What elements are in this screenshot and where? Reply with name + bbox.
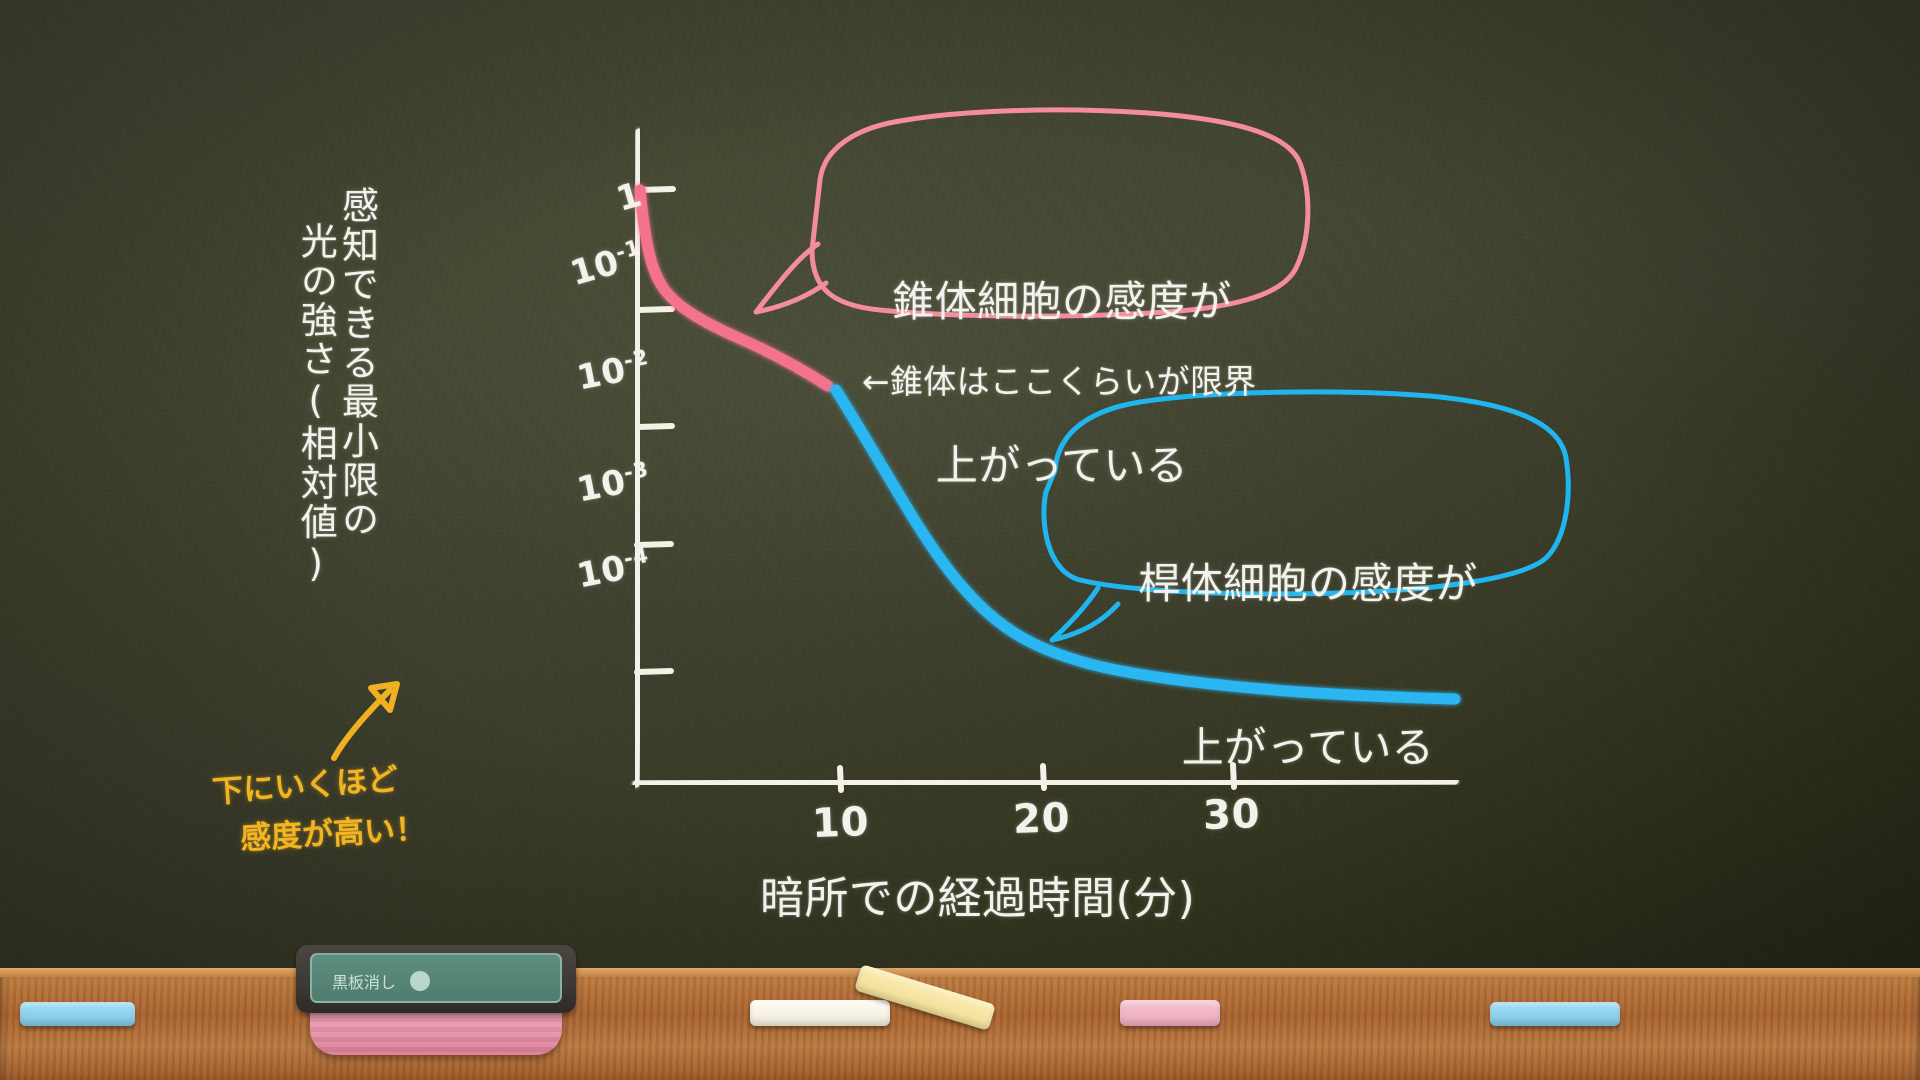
y-tick-label-1e-4-exp: -4: [621, 542, 650, 571]
rod-bubble-text: 桿体細胞の感度が 上がっている: [1050, 448, 1566, 885]
y-tick-label-1e-3-base: 10: [574, 462, 629, 511]
y-axis-title-column-1: 感知できる最小限の: [337, 186, 376, 539]
blackboard-eraser[interactable]: 黒板消し: [296, 945, 576, 1055]
y-tick-label-1e-2-exp: -2: [621, 344, 650, 373]
chalk-tray-lip: [0, 968, 1920, 977]
chalk-stick-blue-left[interactable]: [20, 1002, 135, 1026]
eraser-label-marks: 黒板消し: [332, 969, 547, 993]
y-axis-title: 感知できる最小限の 光の強さ(相対値): [296, 186, 376, 566]
chalk-stick-blue-right[interactable]: [1490, 1002, 1620, 1026]
eraser-label-text: 黒板消し: [332, 969, 396, 993]
cone-bubble-line-1: 錐体細胞の感度が: [812, 275, 1312, 330]
y-axis-title-column-2: 光の強さ(相対値): [296, 222, 335, 587]
chalk-stick-pink[interactable]: [1120, 1000, 1220, 1026]
cone-limit-note: ←錐体はここくらいが限界: [862, 355, 1257, 403]
cone-sensitivity-curve: [640, 190, 828, 386]
eraser-body: 黒板消し: [296, 945, 576, 1013]
rod-bubble-line-1: 桿体細胞の感度が: [1050, 557, 1566, 612]
blackboard-scene: 感知できる最小限の 光の強さ(相対値) 1 10-1 10-2 10-3 10-…: [0, 0, 1920, 1080]
y-tick-label-1e-4: 10-4: [517, 503, 661, 646]
sensitivity-note-arrow: [334, 684, 397, 758]
y-tick-label-1e-3-exp: -3: [621, 456, 650, 485]
rod-bubble-line-2: 上がっている: [1050, 721, 1566, 776]
x-tick-label-10: 10: [811, 799, 870, 847]
chalk-tray: [0, 968, 1920, 1080]
y-tick-label-1e-2-base: 10: [574, 350, 629, 399]
chalk-stick-white[interactable]: [750, 1000, 890, 1026]
eraser-dot-icon: [410, 971, 430, 991]
eraser-label-pad: 黒板消し: [310, 953, 562, 1003]
y-tick-label-1e-4-base: 10: [574, 548, 629, 597]
